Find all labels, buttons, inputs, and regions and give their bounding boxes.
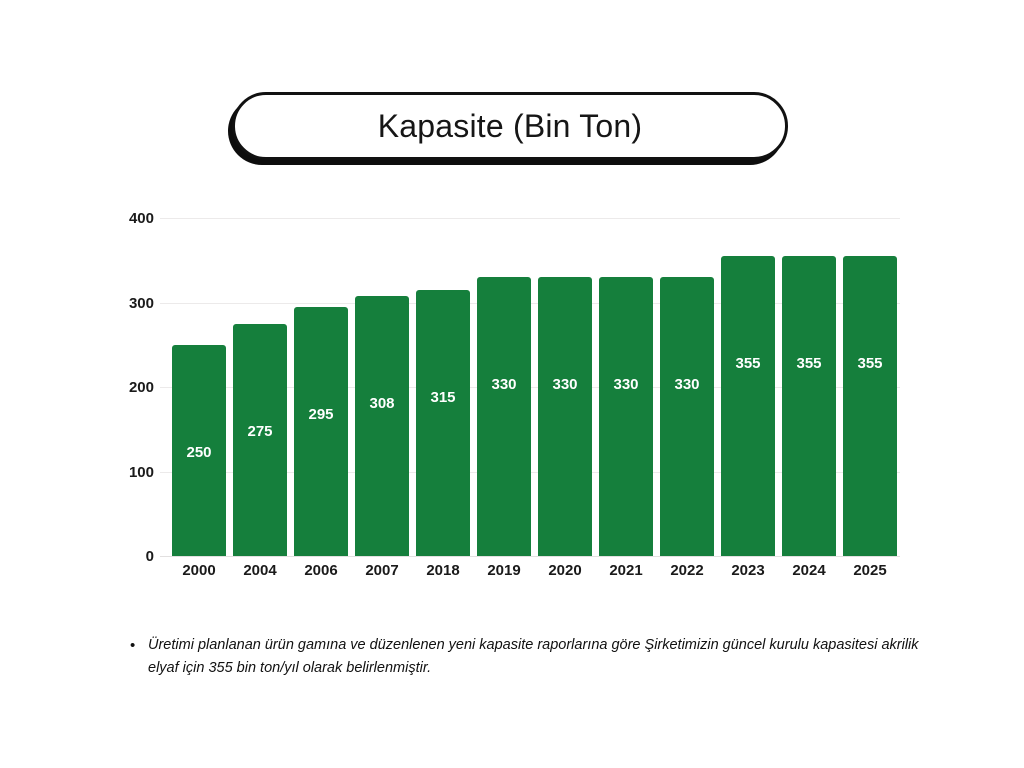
x-axis-tick-label: 2020 — [538, 563, 592, 578]
x-axis-line — [160, 556, 900, 557]
bar-value-label: 330 — [477, 377, 531, 392]
bar-value-label: 308 — [355, 396, 409, 411]
bar-value-label: 315 — [416, 390, 470, 405]
bar-value-label: 330 — [538, 377, 592, 392]
bar — [233, 324, 287, 556]
gridline — [160, 218, 900, 219]
y-axis-tick: 200 — [106, 387, 154, 388]
x-axis-tick-label: 2023 — [721, 563, 775, 578]
bar — [294, 307, 348, 556]
y-axis-tick-label: 200 — [108, 380, 154, 395]
y-axis-tick: 300 — [106, 303, 154, 304]
bar — [782, 256, 836, 556]
bar-value-label: 330 — [599, 377, 653, 392]
bar-value-label: 355 — [843, 356, 897, 371]
bar — [416, 290, 470, 556]
footnote-text: Üretimi planlanan ürün gamına ve düzenle… — [148, 634, 920, 680]
y-axis-tick: 0 — [106, 556, 154, 557]
bar — [538, 277, 592, 556]
x-axis-tick-label: 2024 — [782, 563, 836, 578]
x-axis-tick-label: 2022 — [660, 563, 714, 578]
footnote-list-item: • Üretimi planlanan ürün gamına ve düzen… — [130, 634, 920, 680]
bar-value-label: 295 — [294, 407, 348, 422]
x-axis-tick-label: 2018 — [416, 563, 470, 578]
bar — [355, 296, 409, 556]
bar — [843, 256, 897, 556]
y-axis-tick-label: 100 — [108, 465, 154, 480]
y-axis-tick-label: 300 — [108, 296, 154, 311]
bar — [660, 277, 714, 556]
y-axis-tick: 100 — [106, 472, 154, 473]
bar-value-label: 250 — [172, 445, 226, 460]
y-axis-tick: 400 — [106, 218, 154, 219]
bar-value-label: 275 — [233, 424, 287, 439]
x-axis-tick-label: 2006 — [294, 563, 348, 578]
x-axis-tick-label: 2000 — [172, 563, 226, 578]
bar — [721, 256, 775, 556]
bar-value-label: 355 — [721, 356, 775, 371]
bullet-icon: • — [130, 634, 148, 657]
bar — [599, 277, 653, 556]
x-axis-tick-label: 2025 — [843, 563, 897, 578]
y-axis-tick-label: 400 — [108, 211, 154, 226]
bar — [477, 277, 531, 556]
x-axis-tick-label: 2007 — [355, 563, 409, 578]
bar-value-label: 330 — [660, 377, 714, 392]
bar-value-label: 355 — [782, 356, 836, 371]
x-axis-tick-label: 2004 — [233, 563, 287, 578]
x-axis-tick-label: 2021 — [599, 563, 653, 578]
y-axis-tick-label: 0 — [108, 549, 154, 564]
x-axis-tick-label: 2019 — [477, 563, 531, 578]
